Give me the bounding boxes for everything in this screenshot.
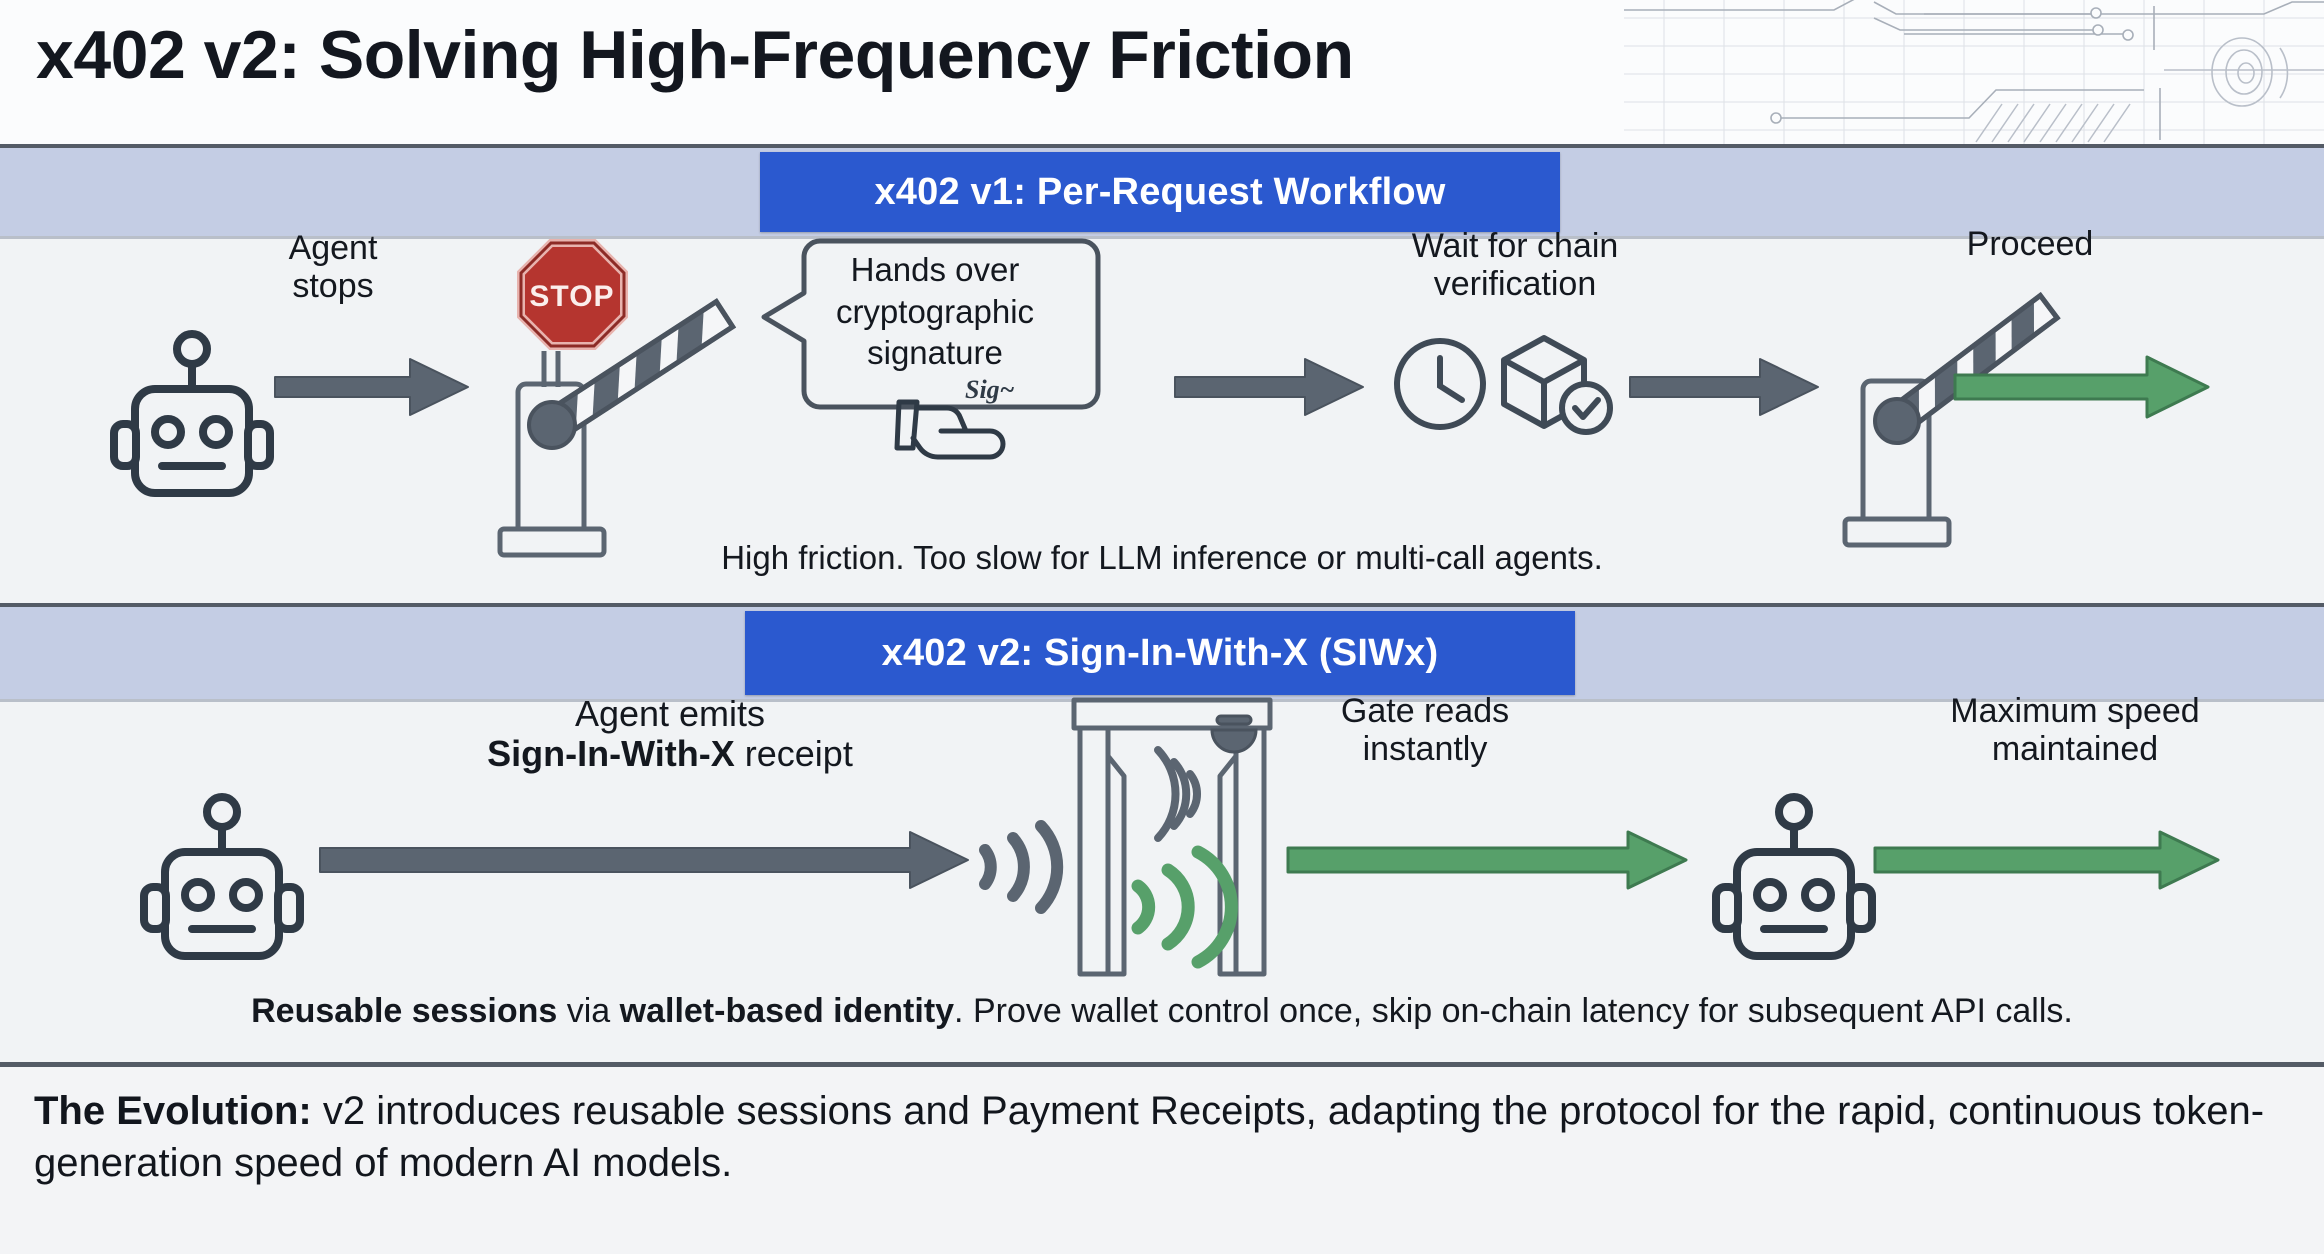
signal-waves-icon [1118, 830, 1248, 980]
arrow-right-green-icon [1875, 832, 2220, 888]
footer-conclusion-text: The Evolution: v2 introduces reusable se… [34, 1085, 2290, 1189]
step-label-maximum-speed: Maximum speed maintained [1875, 692, 2275, 768]
step-label-proceed: Proceed [1890, 225, 2170, 263]
block-verified-icon [1500, 332, 1615, 437]
arrow-right-green-icon [1955, 357, 2210, 417]
v2-diagram-area: Agent emits Sign-In-With-X receipt [0, 702, 2324, 1062]
title-band: x402 v2: Solving High-Frequency Friction [0, 0, 2324, 148]
v1-diagram-area: Agent stops STOP [0, 239, 2324, 603]
signal-waves-icon [965, 812, 1075, 922]
arrow-right-green-icon [1288, 832, 1688, 888]
arrow-right-gray-icon [1630, 357, 1820, 417]
clock-icon [1390, 334, 1490, 434]
step-label-agent-emits-receipt: Agent emits Sign-In-With-X receipt [350, 694, 990, 775]
stop-sign-icon: STOP [521, 243, 624, 346]
barrier-gate-icon: STOP [470, 229, 770, 559]
page-title: x402 v2: Solving High-Frequency Friction [36, 16, 1354, 94]
robot-head-icon [1712, 792, 1877, 967]
section-header-v1: x402 v1: Per-Request Workflow [760, 152, 1560, 232]
speech-bubble-text: Hands over cryptographic signature [760, 249, 1110, 374]
footer-area: The Evolution: v2 introduces reusable se… [0, 1067, 2324, 1254]
robot-head-icon [140, 792, 305, 967]
step-label-gate-reads-instantly: Gate reads instantly [1255, 692, 1595, 768]
step-label-wait-for-chain-verification: Wait for chain verification [1340, 227, 1690, 303]
caption-v1: High friction. Too slow for LLM inferenc… [0, 539, 2324, 577]
robot-head-icon [110, 329, 275, 504]
circuit-decoration-icon [1624, 0, 2324, 148]
arrow-right-gray-icon [320, 832, 970, 888]
sig-script-text: Sig~ [965, 375, 1015, 404]
arrow-right-gray-icon [275, 357, 470, 417]
section-header-v2: x402 v2: Sign-In-With-X (SIWx) [745, 611, 1575, 695]
step-label-agent-stops: Agent stops [228, 229, 438, 305]
open-hand-icon: Sig~ [885, 384, 1035, 464]
arrow-right-gray-icon [1175, 357, 1365, 417]
infographic-page: x402 v2: Solving High-Frequency Friction… [0, 0, 2324, 1254]
svg-text:STOP: STOP [529, 280, 614, 313]
caption-v2: Reusable sessions via wallet-based ident… [0, 992, 2324, 1031]
